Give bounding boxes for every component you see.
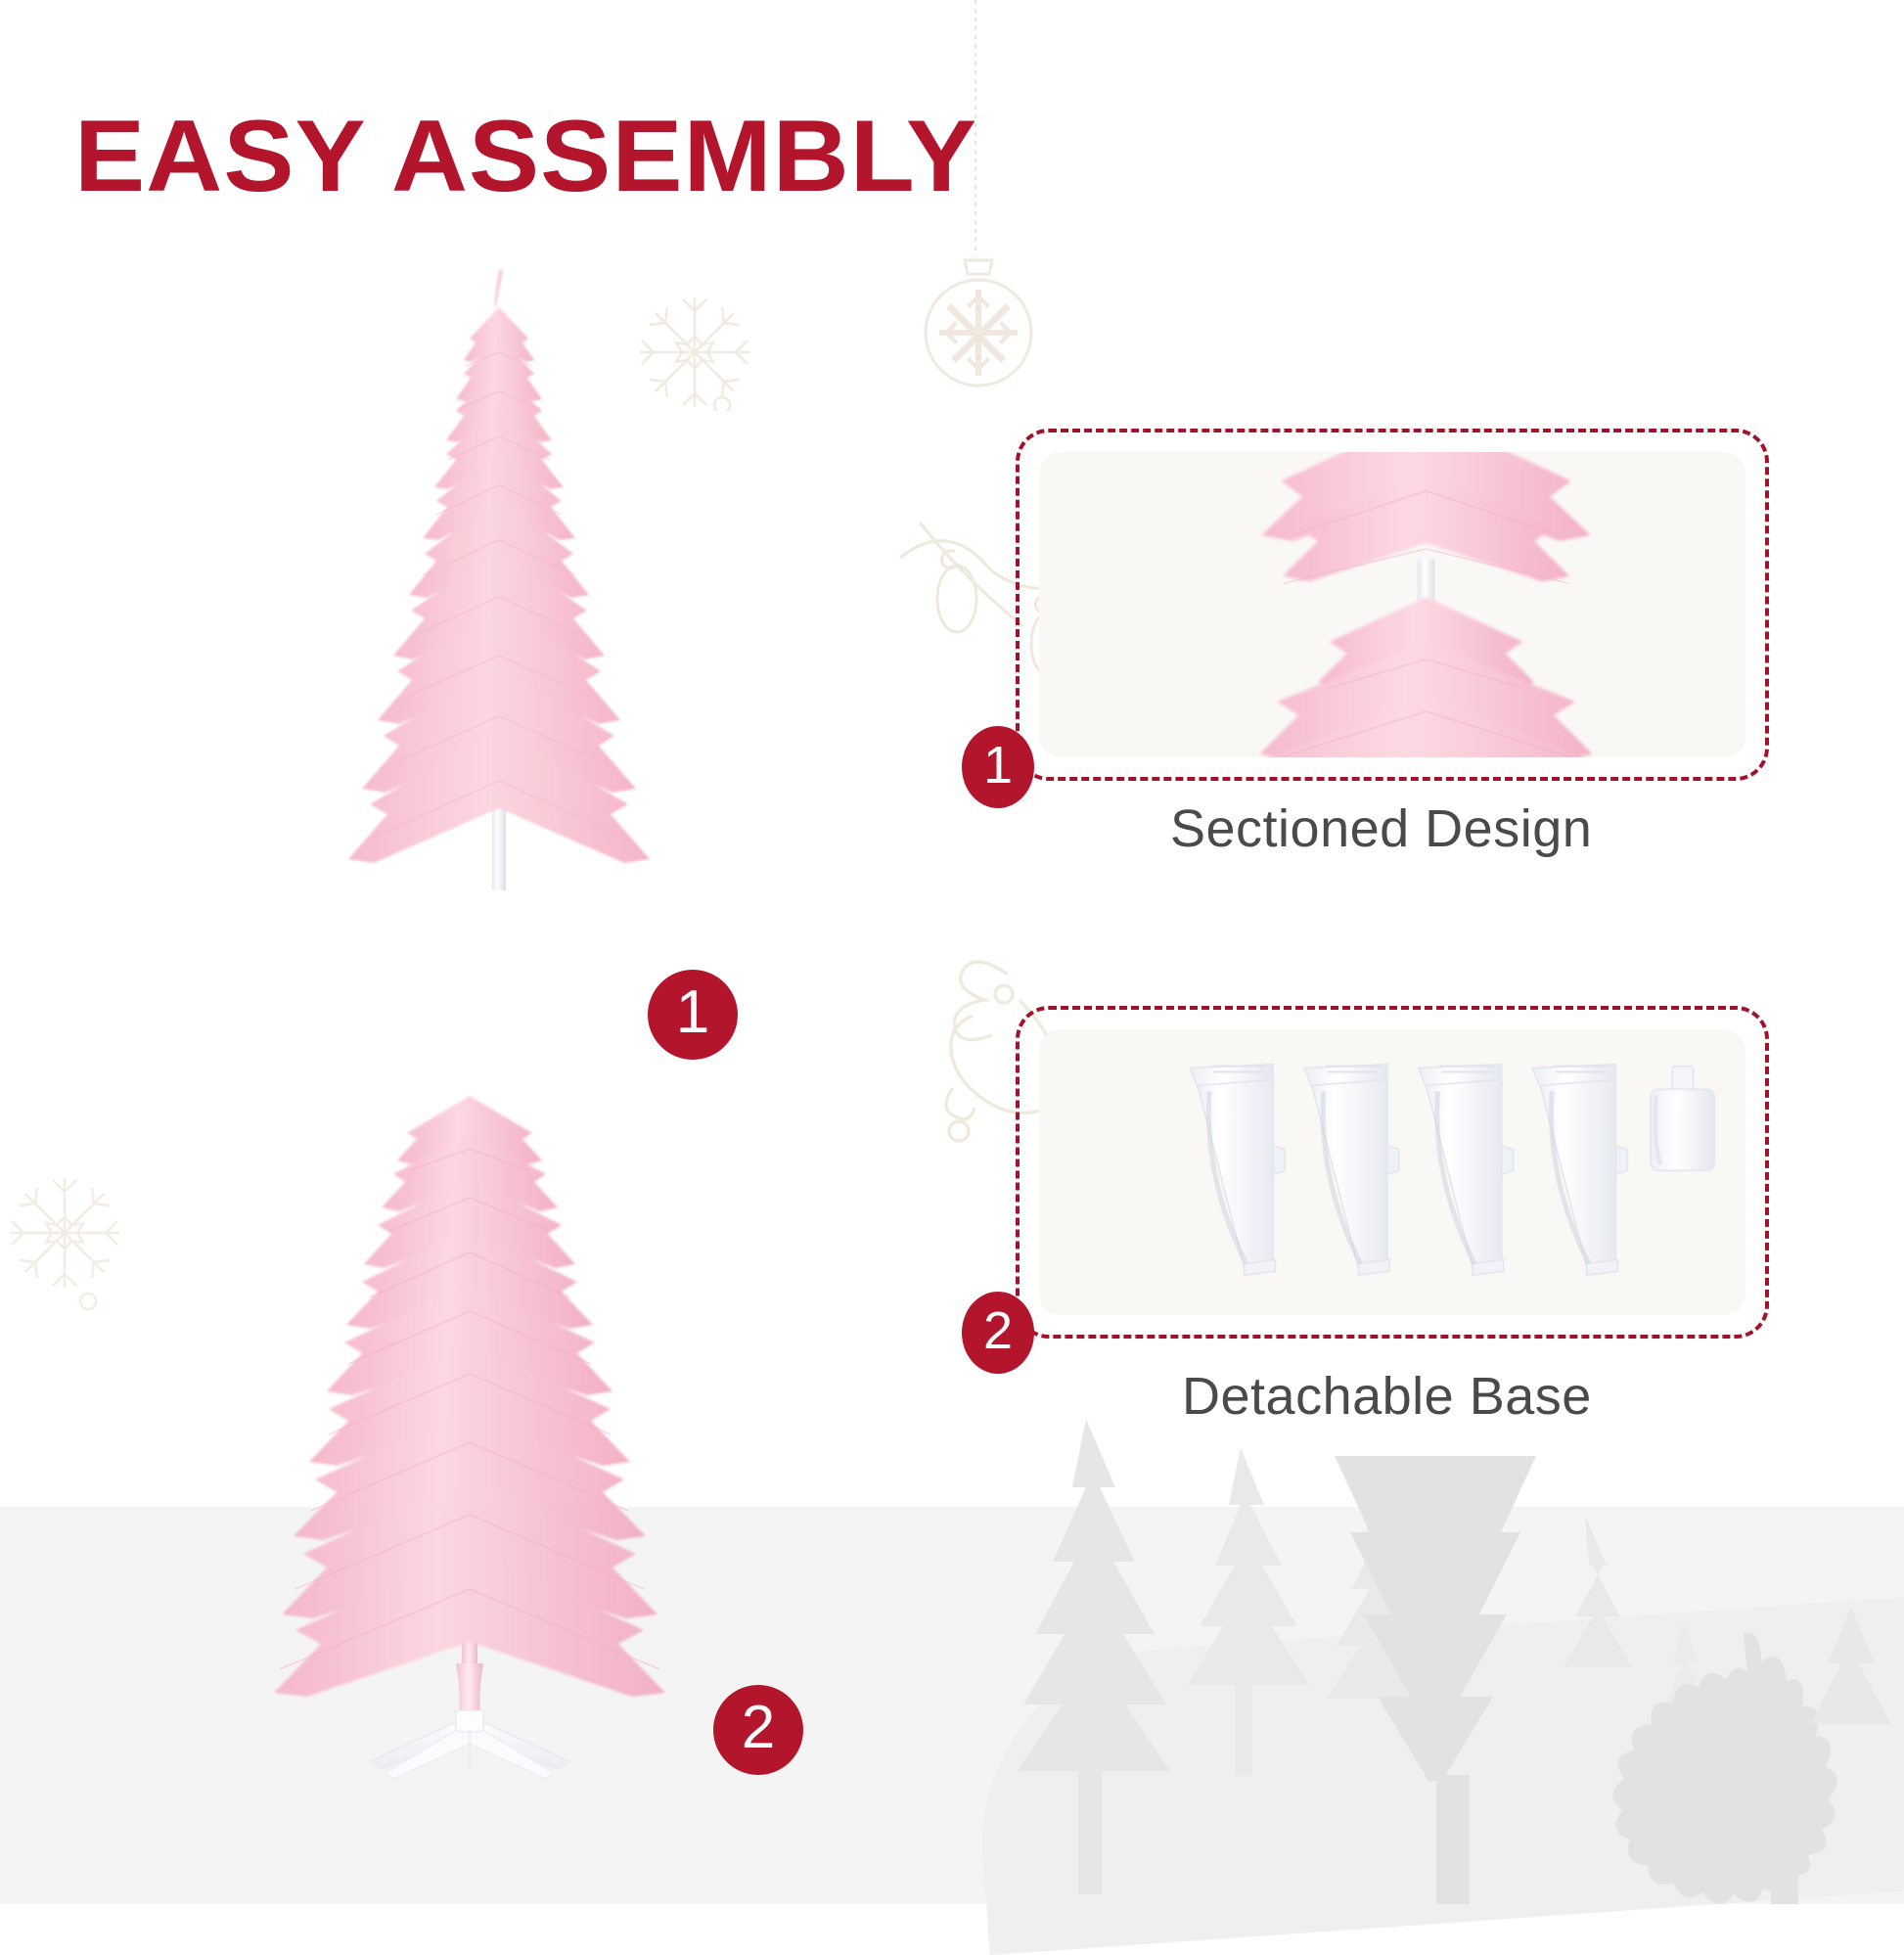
callout-caption-sectioned-design: Sectioned Design: [1170, 798, 1592, 859]
ornament-ball-icon: [910, 245, 1047, 391]
callout-badge-1: 1: [962, 726, 1034, 808]
callout-2-image: [1039, 1029, 1745, 1315]
step-marker-2: 2: [713, 1685, 803, 1775]
callout-card-sectioned-design: [1016, 429, 1769, 781]
page-title: EASY ASSEMBLY: [74, 106, 977, 207]
tree-stand: [370, 1710, 569, 1779]
callout-card-detachable-base: [1016, 1006, 1769, 1339]
callout-caption-detachable-base: Detachable Base: [1182, 1366, 1592, 1427]
tree-full-photo: [225, 1076, 714, 1781]
infographic-canvas: EASY ASSEMBLY: [0, 0, 1904, 1904]
snowflake-icon: [6, 1174, 123, 1311]
step-marker-1: 1: [648, 970, 738, 1060]
callout-badge-2: 2: [962, 1292, 1034, 1374]
tree-top-section-photo: [294, 264, 704, 890]
callout-1-image: [1039, 452, 1745, 757]
